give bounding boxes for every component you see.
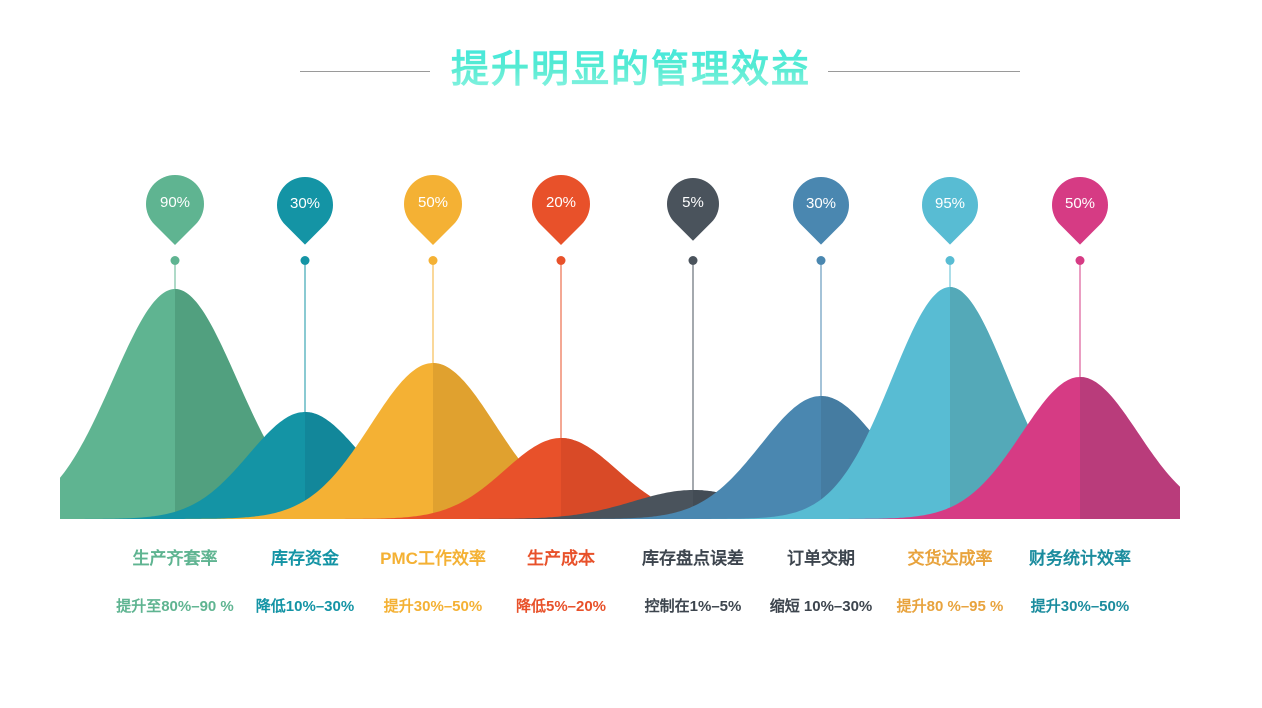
balloon-pin-icon: 50% bbox=[1040, 165, 1119, 244]
bell-curve bbox=[60, 490, 1180, 519]
bell-curve-right-half bbox=[60, 377, 1180, 519]
balloon-value-label: 90% bbox=[146, 175, 204, 233]
balloon-value-label: 30% bbox=[793, 177, 849, 233]
balloon-pin-icon: 90% bbox=[134, 163, 216, 245]
balloon-pin-icon: 30% bbox=[781, 165, 860, 244]
category-name: 交货达成率 bbox=[897, 548, 1004, 570]
category-metric: 提升至80%–90 % bbox=[116, 597, 234, 617]
bell-curve bbox=[60, 438, 1180, 519]
balloon-marker[interactable]: 30% bbox=[793, 177, 849, 233]
page-header: 提升明显的管理效益 bbox=[0, 42, 1262, 102]
bell-curve bbox=[60, 363, 1180, 519]
bell-curve-right-half bbox=[60, 363, 1180, 519]
category-name: PMC工作效率 bbox=[380, 548, 486, 570]
category-metric: 提升30%–50% bbox=[1029, 597, 1131, 617]
balloon-marker[interactable]: 5% bbox=[667, 178, 719, 230]
category-name: 财务统计效率 bbox=[1029, 548, 1131, 570]
bell-curve-left-half bbox=[60, 289, 1180, 519]
balloon-stem-line bbox=[1080, 264, 1081, 377]
category-column: 生产成本降低5%–20% bbox=[516, 548, 606, 617]
balloon-pin-icon: 50% bbox=[392, 163, 474, 245]
category-column: 生产齐套率提升至80%–90 % bbox=[116, 548, 234, 617]
category-metric: 缩短 10%–30% bbox=[770, 597, 873, 617]
bell-curve bbox=[60, 412, 1180, 519]
balloon-stem-line bbox=[561, 264, 562, 438]
category-column: 财务统计效率提升30%–50% bbox=[1029, 548, 1131, 617]
bell-curve-left-half bbox=[60, 490, 1180, 519]
bell-curve-right-half bbox=[60, 289, 1180, 519]
bell-curve-left-half bbox=[60, 363, 1180, 519]
category-name: 生产成本 bbox=[516, 548, 606, 570]
category-name: 库存资金 bbox=[256, 548, 354, 570]
bell-curve-right-half bbox=[60, 438, 1180, 519]
bell-curve bbox=[60, 289, 1180, 519]
bell-curve bbox=[60, 287, 1180, 519]
balloon-value-label: 30% bbox=[277, 177, 333, 233]
balloon-marker[interactable]: 50% bbox=[1052, 177, 1108, 233]
balloon-stem-line bbox=[821, 264, 822, 396]
category-name: 订单交期 bbox=[770, 548, 873, 570]
balloon-value-label: 5% bbox=[667, 178, 719, 230]
balloon-marker[interactable]: 50% bbox=[404, 175, 462, 233]
balloon-stem-line bbox=[305, 264, 306, 412]
category-metric: 提升30%–50% bbox=[380, 597, 486, 617]
balloon-value-label: 50% bbox=[404, 175, 462, 233]
category-metric: 控制在1%–5% bbox=[642, 597, 744, 617]
balloon-pin-icon: 5% bbox=[656, 167, 730, 241]
balloon-stem-line bbox=[693, 264, 694, 490]
page-title: 提升明显的管理效益 bbox=[0, 42, 1262, 98]
category-column: 库存盘点误差控制在1%–5% bbox=[642, 548, 744, 617]
balloon-marker[interactable]: 30% bbox=[277, 177, 333, 233]
bell-curve-right-half bbox=[60, 287, 1180, 519]
balloon-pin-icon: 30% bbox=[265, 165, 344, 244]
balloon-value-label: 50% bbox=[1052, 177, 1108, 233]
bell-curve-left-half bbox=[60, 287, 1180, 519]
category-metric: 降低5%–20% bbox=[516, 597, 606, 617]
balloon-value-label: 20% bbox=[532, 175, 590, 233]
balloon-pin-icon: 20% bbox=[520, 163, 602, 245]
bell-curve-left-half bbox=[60, 438, 1180, 519]
balloon-stem-line bbox=[950, 264, 951, 287]
bell-curve bbox=[60, 396, 1180, 519]
category-column: PMC工作效率提升30%–50% bbox=[380, 548, 486, 617]
balloon-value-label: 95% bbox=[922, 177, 978, 233]
balloon-marker[interactable]: 95% bbox=[922, 177, 978, 233]
balloon-marker[interactable]: 90% bbox=[146, 175, 204, 233]
bell-curve-left-half bbox=[60, 396, 1180, 519]
balloon-stem-line bbox=[175, 264, 176, 289]
category-name: 生产齐套率 bbox=[116, 548, 234, 570]
bell-curve-left-half bbox=[60, 412, 1180, 519]
bell-curve bbox=[60, 377, 1180, 519]
title-rule-right bbox=[828, 71, 1020, 72]
category-metric: 提升80 %–95 % bbox=[897, 597, 1004, 617]
bell-curve-right-half bbox=[60, 412, 1180, 519]
balloon-pin-icon: 95% bbox=[910, 165, 989, 244]
category-name: 库存盘点误差 bbox=[642, 548, 744, 570]
bell-curve-left-half bbox=[60, 377, 1180, 519]
category-metric: 降低10%–30% bbox=[256, 597, 354, 617]
bell-curve-right-half bbox=[60, 490, 1180, 519]
balloon-stem-line bbox=[433, 264, 434, 363]
category-column: 交货达成率提升80 %–95 % bbox=[897, 548, 1004, 617]
bell-curve-right-half bbox=[60, 396, 1180, 519]
category-column: 库存资金降低10%–30% bbox=[256, 548, 354, 617]
balloon-marker[interactable]: 20% bbox=[532, 175, 590, 233]
category-column: 订单交期缩短 10%–30% bbox=[770, 548, 873, 617]
